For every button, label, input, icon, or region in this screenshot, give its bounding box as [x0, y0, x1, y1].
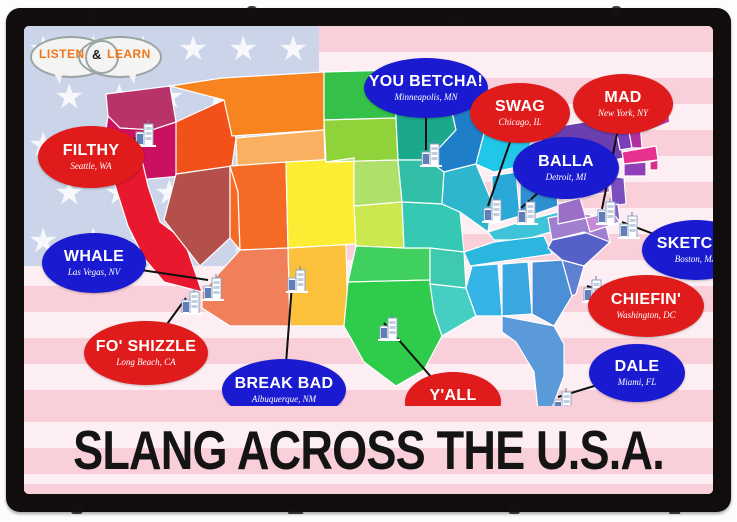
callout-seattle[interactable]: FILTHYSeattle, WA — [38, 126, 144, 188]
callout-city: New York, NY — [598, 109, 648, 118]
callout-slang: BREAK BAD — [235, 376, 334, 392]
state-KS — [354, 202, 404, 248]
callout-detroit[interactable]: BALLADetroit, MI — [513, 137, 619, 199]
state-AR — [430, 248, 466, 288]
callout-city: Chicago, IL — [498, 118, 541, 127]
callout-slang: MAD — [604, 90, 641, 106]
building-icon-chicago — [480, 196, 506, 231]
building-icon-detroit — [514, 198, 540, 233]
callout-city: Seattle, WA — [70, 162, 111, 171]
building-icon-minneapolis — [418, 140, 444, 175]
callout-slang: SWAG — [495, 99, 545, 115]
callout-las-vegas[interactable]: WHALELas Vegas, NV — [42, 233, 146, 293]
callout-slang: WHALE — [64, 249, 124, 265]
state-AL — [502, 262, 532, 316]
callout-city: Las Vegas, NV — [68, 268, 120, 277]
callout-slang: FILTHY — [63, 143, 120, 159]
callout-slang: SKETCHY — [657, 236, 713, 252]
speech-bubble-tail-left-icon — [52, 70, 63, 84]
logo-word-learn: LEARN — [107, 47, 151, 61]
state-CT — [624, 162, 646, 176]
callout-slang: DALE — [615, 359, 660, 375]
callout-washington[interactable]: CHIEFIN'Washington, DC — [588, 275, 704, 337]
callout-slang: BALLA — [538, 154, 594, 170]
speech-bubble-tail-right-icon — [126, 70, 137, 84]
callout-city: Washington, DC — [616, 311, 675, 320]
logo-word-listen: LISTEN — [39, 47, 85, 61]
callout-new-york[interactable]: MADNew York, NY — [573, 74, 673, 134]
callout-city: Detroit, MI — [546, 173, 587, 182]
callout-city: Long Beach, CA — [116, 358, 175, 367]
callout-city: Miami, FL — [618, 378, 657, 387]
state-RI — [650, 160, 658, 170]
poster-root: ★★★★★★★★★★★★★★★★★★★★★★★★★★★★★★ — [0, 0, 737, 522]
state-OK2 — [348, 246, 430, 282]
callout-long-beach[interactable]: FO' SHIZZLELong Beach, CA — [84, 321, 208, 385]
listen-and-learn-logo[interactable]: LISTEN & LEARN — [30, 32, 162, 88]
callout-city: Albuquerque, NM — [252, 395, 316, 404]
poster-title-bar: SLANG ACROSS THE U.S.A. — [24, 406, 713, 494]
building-icon-long-beach — [178, 288, 204, 323]
callout-slang: YOU BETCHA! — [369, 74, 483, 90]
logo-ampersand: & — [92, 47, 101, 62]
callout-city: Boston, MA — [675, 255, 713, 264]
callout-miami[interactable]: DALEMiami, FL — [589, 344, 685, 402]
page-title: SLANG ACROSS THE U.S.A. — [86, 406, 651, 494]
state-CO — [286, 158, 356, 248]
building-icon-dallas — [376, 314, 402, 349]
callout-city: Minneapolis, MN — [395, 93, 458, 102]
state-SD — [324, 118, 398, 162]
callout-chicago[interactable]: SWAGChicago, IL — [470, 83, 570, 143]
callout-slang: Y'ALL — [429, 388, 476, 404]
callout-slang: CHIEFIN' — [611, 292, 681, 308]
callout-slang: FO' SHIZZLE — [96, 339, 196, 355]
building-icon-albuquerque — [284, 266, 310, 301]
building-icon-boston — [616, 212, 642, 247]
